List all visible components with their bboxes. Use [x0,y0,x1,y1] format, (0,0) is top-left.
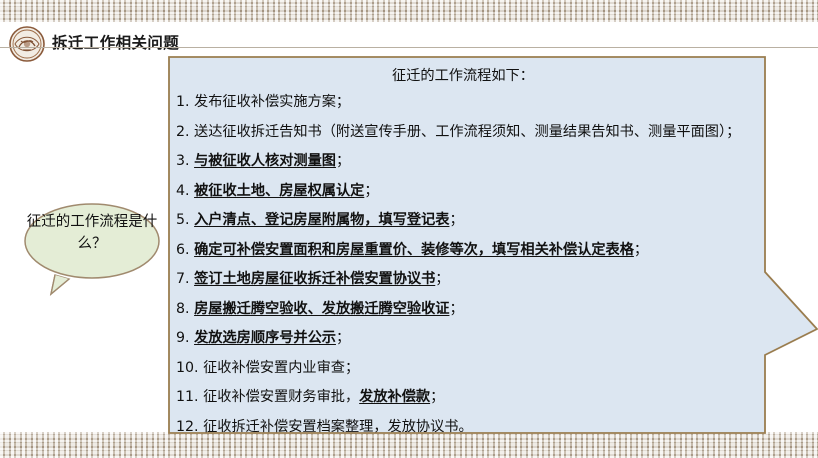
flow-step-4: 4. 被征收土地、房屋权属认定； [176,177,764,207]
flow-step-emphasis: 被征收土地、房屋权属认定 [194,183,364,199]
flow-step-text: 征收补偿安置内业审查； [199,360,360,376]
flow-step-12: 12. 征收拆迁补偿安置档案整理，发放协议书。 [176,413,764,443]
flow-title: 征迁的工作流程如下： [176,64,764,88]
flow-step-text-tail: ； [449,301,463,317]
flow-step-text-tail: ； [435,271,449,287]
flow-step-emphasis: 发放补偿款 [359,389,430,405]
flow-step-1: 1. 发布征收补偿实施方案； [176,88,764,118]
flow-step-7: 7. 签订土地房屋征收拆迁补偿安置协议书； [176,265,764,295]
flow-step-text-tail: ； [449,212,463,228]
flow-step-number: 3. [176,153,190,169]
flow-step-emphasis: 发放选房顺序号并公示 [194,330,336,346]
flow-step-text: 征收拆迁补偿安置档案整理，发放协议书。 [199,419,473,435]
flow-step-text-tail: ； [336,153,350,169]
flow-step-number: 8. [176,301,190,317]
top-texture-band [0,0,818,22]
flow-step-8: 8. 房屋搬迁腾空验收、发放搬迁腾空验收证； [176,295,764,325]
flow-steps-list: 1. 发布征收补偿实施方案；2. 送达征收拆迁告知书（附送宣传手册、工作流程须知… [176,88,764,442]
flow-step-number: 7. [176,271,190,287]
flow-step-text-tail: ； [430,389,444,405]
flow-step-5: 5. 入户清点、登记房屋附属物，填写登记表； [176,206,764,236]
flow-step-number: 9. [176,330,190,346]
flow-step-6: 6. 确定可补偿安置面积和房屋重置价、装修等次，填写相关补偿认定表格； [176,236,764,266]
flow-step-emphasis: 房屋搬迁腾空验收、发放搬迁腾空验收证 [194,301,449,317]
flow-step-number: 5. [176,212,190,228]
flow-step-number: 6. [176,242,190,258]
flow-step-text: 送达征收拆迁告知书（附送宣传手册、工作流程须知、测量结果告知书、测量平面图）； [190,124,741,140]
flow-step-text-tail: ； [634,242,648,258]
flow-step-emphasis: 入户清点、登记房屋附属物，填写登记表 [194,212,449,228]
flow-step-2: 2. 送达征收拆迁告知书（附送宣传手册、工作流程须知、测量结果告知书、测量平面图… [176,118,764,148]
flow-step-number: 12. [176,419,199,435]
flow-step-text: 发布征收补偿实施方案； [190,94,351,110]
flow-step-number: 4. [176,183,190,199]
flow-step-number: 10. [176,360,199,376]
callout-content: 征迁的工作流程如下： 1. 发布征收补偿实施方案；2. 送达征收拆迁告知书（附送… [176,60,764,430]
flow-step-number: 1. [176,94,190,110]
seal-emblem-icon [7,25,47,63]
question-bubble-text: 征迁的工作流程是什么？ [17,211,167,255]
flow-step-emphasis: 确定可补偿安置面积和房屋重置价、装修等次，填写相关补偿认定表格 [194,242,634,258]
flow-step-9: 9. 发放选房顺序号并公示； [176,324,764,354]
flow-step-emphasis: 与被征收人核对测量图 [194,153,336,169]
flow-step-text: 征收补偿安置财务审批， [199,389,360,405]
flow-step-3: 3. 与被征收人核对测量图； [176,147,764,177]
flow-step-number: 2. [176,124,190,140]
flow-step-text-tail: ； [364,183,378,199]
flow-step-11: 11. 征收补偿安置财务审批，发放补偿款； [176,383,764,413]
header-divider [0,47,818,48]
flow-step-number: 11. [176,389,199,405]
page-title: 拆迁工作相关问题 [52,31,179,53]
flow-step-10: 10. 征收补偿安置内业审查； [176,354,764,384]
flow-step-emphasis: 签订土地房屋征收拆迁补偿安置协议书 [194,271,435,287]
page-header: 拆迁工作相关问题 [0,22,818,48]
flow-step-text-tail: ； [336,330,350,346]
process-callout-box: 征迁的工作流程如下： 1. 发布征收补偿实施方案；2. 送达征收拆迁告知书（附送… [168,56,818,434]
question-bubble[interactable]: 征迁的工作流程是什么？ [17,196,167,301]
